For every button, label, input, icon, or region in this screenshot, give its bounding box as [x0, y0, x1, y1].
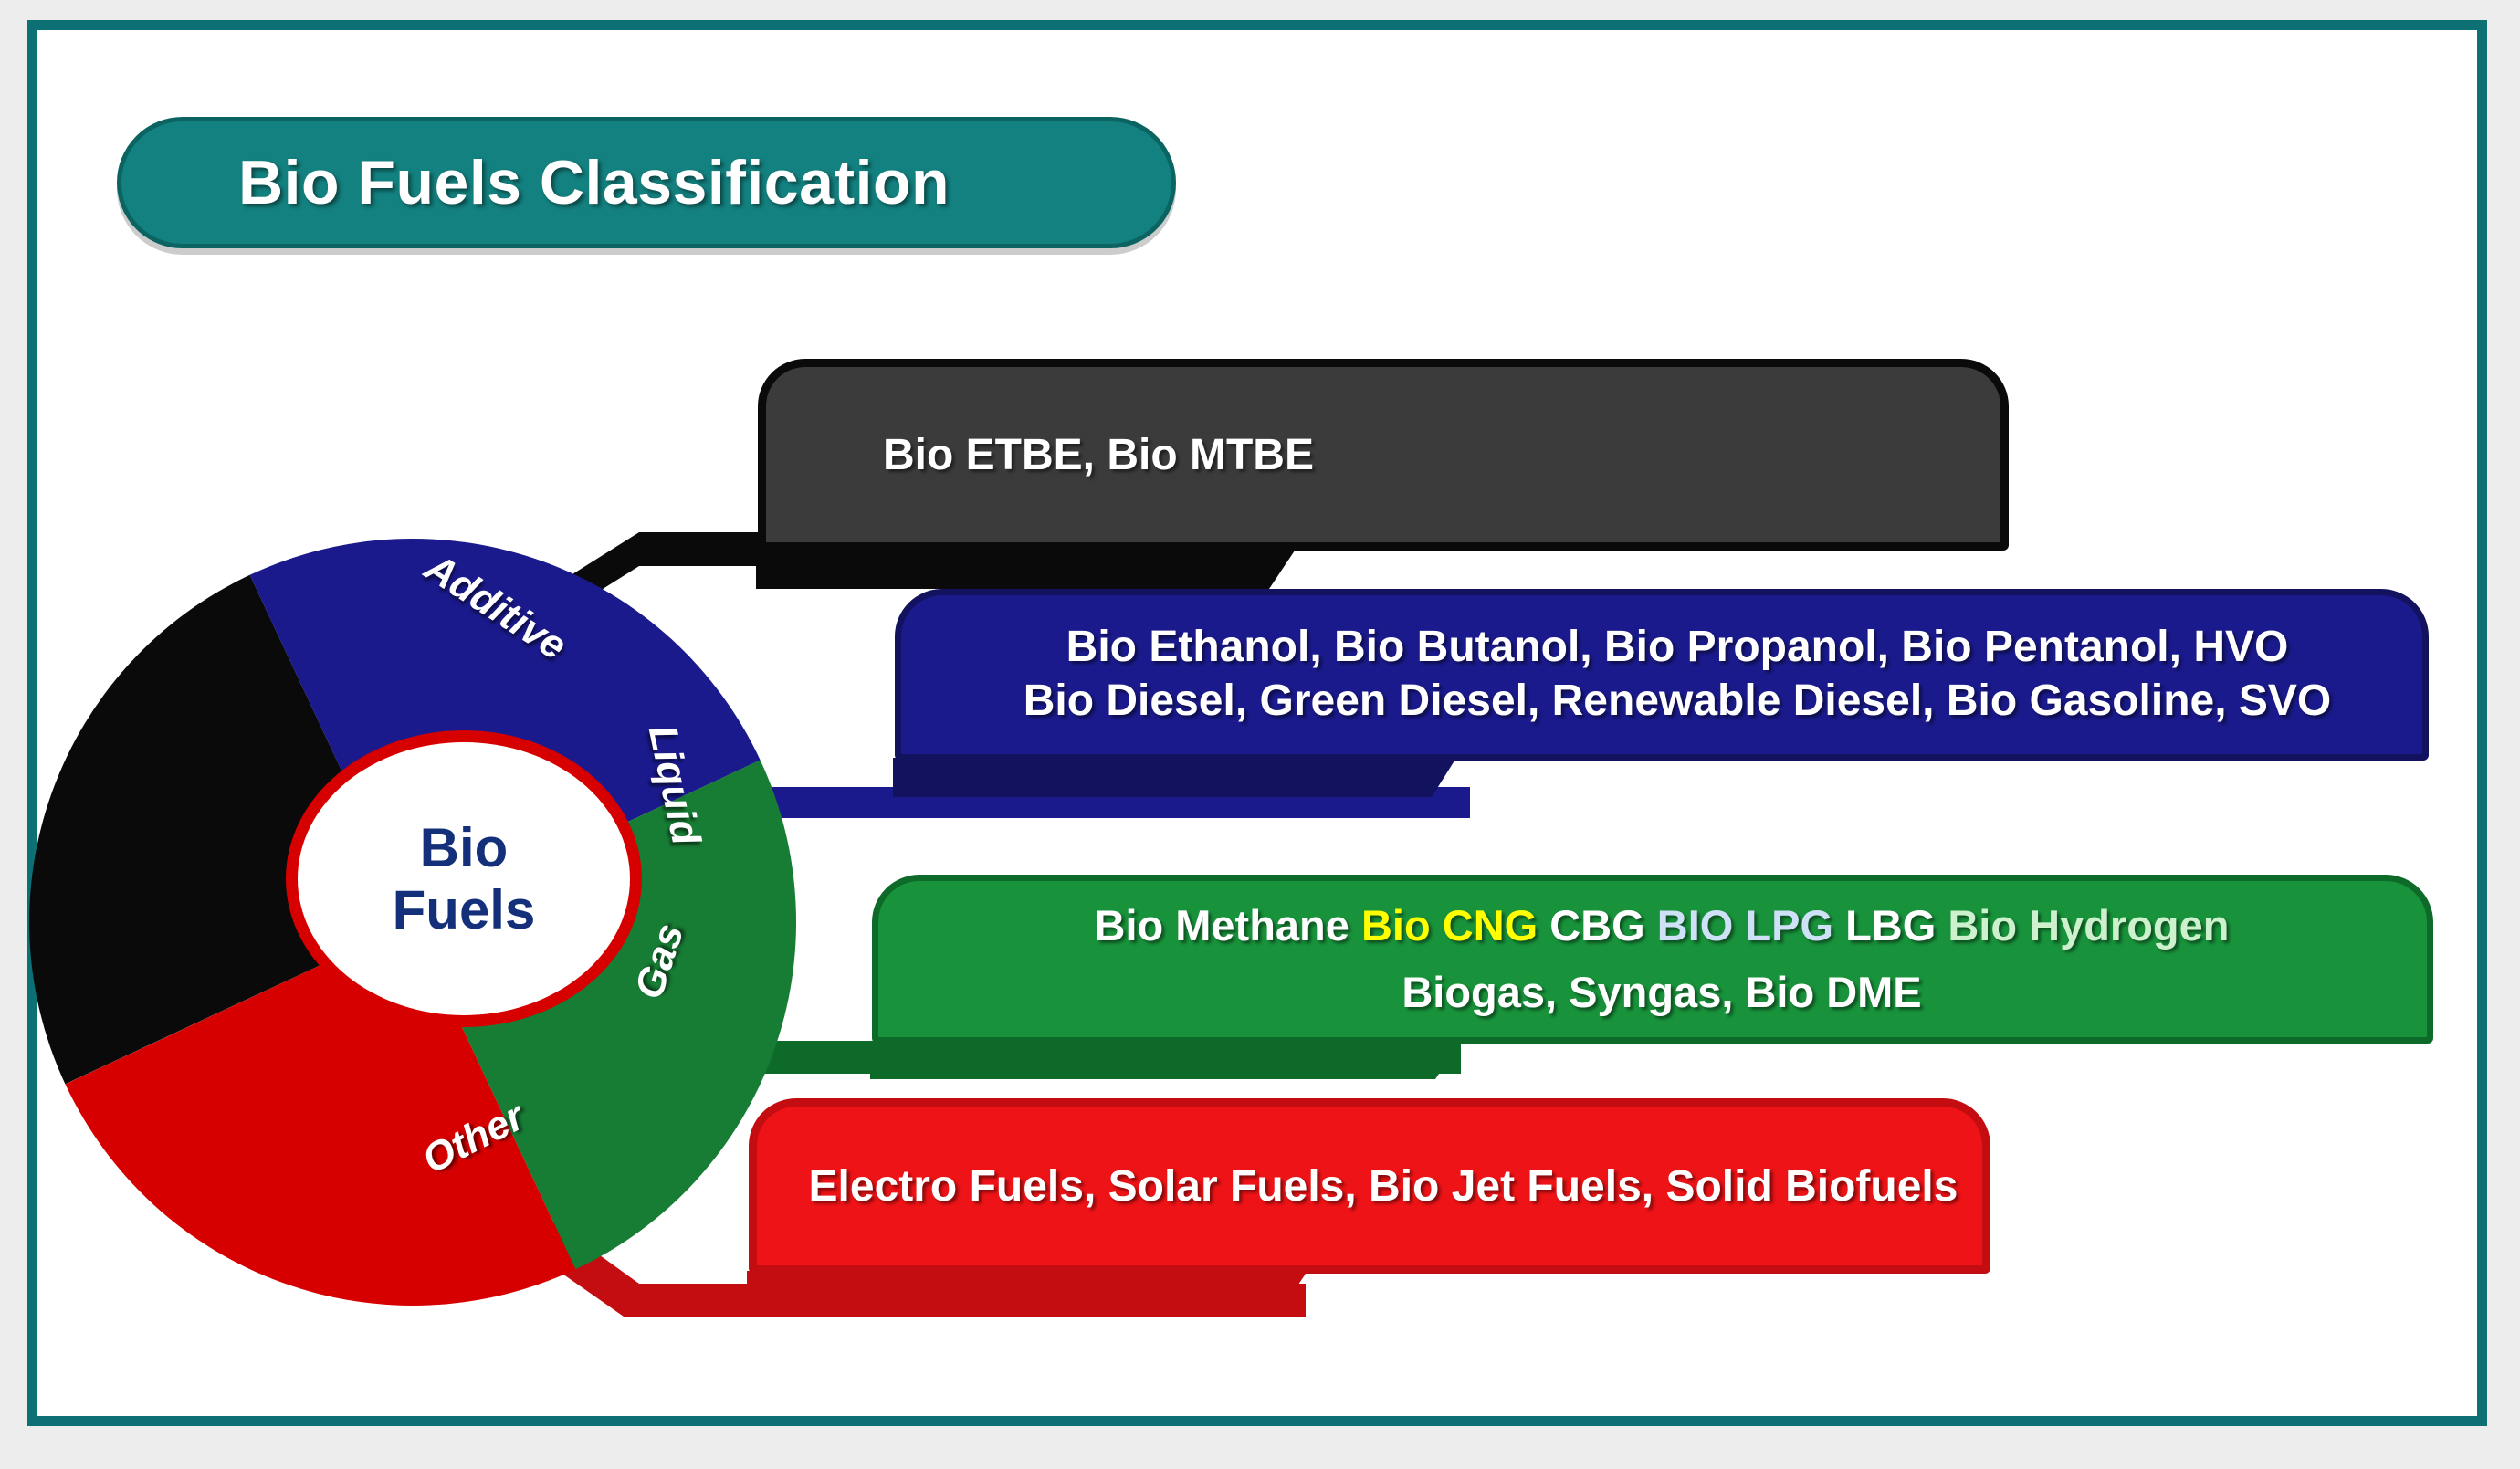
panel-other-line1: Electro Fuels, Solar Fuels, Bio Jet Fuel…	[784, 1161, 1982, 1212]
gas-token-0: Bio Methane	[1095, 901, 1349, 950]
tab-gas	[870, 1041, 1461, 1079]
diagram-stage: Bio Fuels Classification Bio ETBE, Bio M…	[0, 0, 2520, 1469]
panel-gas-line2: Biogas, Syngas, Bio DME	[897, 960, 2427, 1026]
hub-label-line1: Bio	[420, 817, 509, 878]
hub-label: Bio Fuels	[286, 730, 642, 1027]
gas-token-5: Bio Hydrogen	[1948, 901, 2229, 950]
gas-token-4: LBG	[1845, 901, 1936, 950]
gas-token-2: CBG	[1549, 901, 1644, 950]
panel-gas[interactable]: Bio Methane Bio CNG CBG BIO LPG LBG Bio …	[872, 875, 2433, 1044]
panel-additive[interactable]: Bio ETBE, Bio MTBE	[758, 359, 2009, 551]
panel-liquid-line2: Bio Diesel, Green Diesel, Renewable Dies…	[932, 675, 2422, 729]
title-pill: Bio Fuels Classification	[117, 117, 1176, 248]
panel-gas-line1: Bio Methane Bio CNG CBG BIO LPG LBG Bio …	[897, 893, 2427, 960]
tab-liquid	[893, 758, 1456, 797]
hub-label-line2: Fuels	[393, 879, 536, 940]
tab-additive	[756, 548, 1297, 589]
panel-liquid[interactable]: Bio Ethanol, Bio Butanol, Bio Propanol, …	[895, 589, 2429, 761]
panel-additive-line1: Bio ETBE, Bio MTBE	[883, 430, 2000, 480]
gas-token-1: Bio CNG	[1361, 901, 1538, 950]
panel-other[interactable]: Electro Fuels, Solar Fuels, Bio Jet Fuel…	[749, 1098, 1990, 1274]
panel-liquid-line1: Bio Ethanol, Bio Butanol, Bio Propanol, …	[932, 621, 2422, 675]
gas-token-3: BIO LPG	[1657, 901, 1833, 950]
page-title: Bio Fuels Classification	[121, 121, 1171, 244]
tab-other	[747, 1271, 1307, 1312]
